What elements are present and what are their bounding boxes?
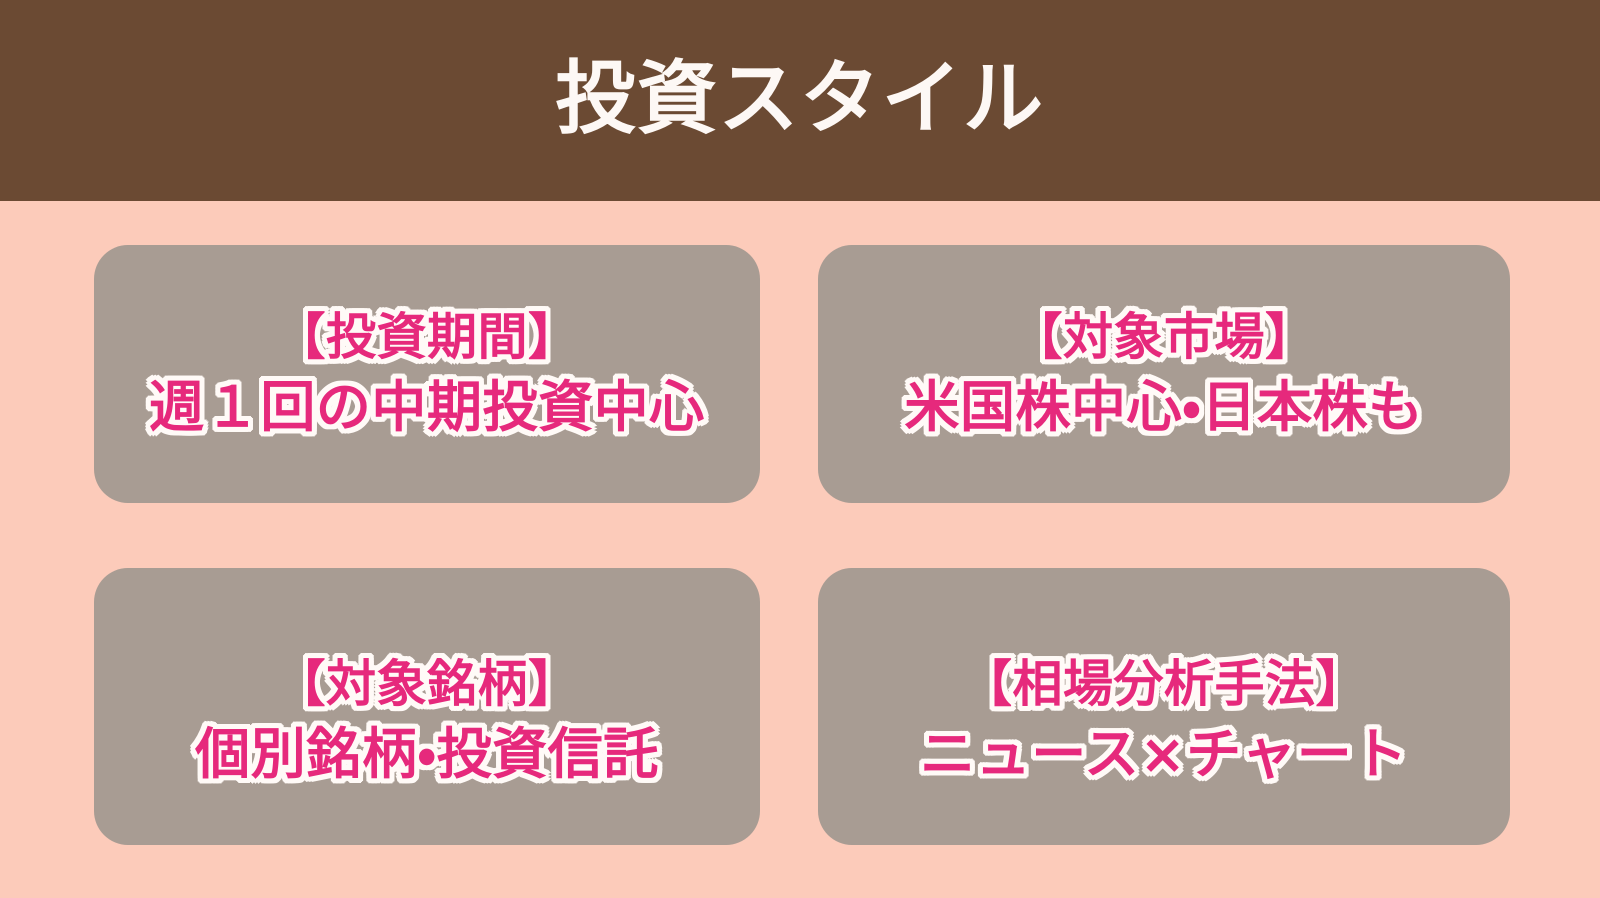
- card-title: 【対象銘柄】: [276, 656, 579, 713]
- card-content: 【対象市場】 米国株中心・日本株も: [904, 309, 1423, 439]
- card-body: 個別銘柄・投資信託: [195, 723, 659, 786]
- card-target-market: 【対象市場】 米国株中心・日本株も: [818, 245, 1510, 503]
- card-content: 【投資期間】 週１回の中期投資中心: [149, 309, 705, 439]
- card-analysis-method: 【相場分析手法】 ニュース×チャート: [818, 568, 1510, 845]
- card-title: 【相場分析手法】: [962, 656, 1366, 713]
- card-content: 【相場分析手法】 ニュース×チャート: [920, 656, 1408, 786]
- header-band: 投資スタイル: [0, 0, 1600, 201]
- slide-root: 投資スタイル 【投資期間】 週１回の中期投資中心 【対象市場】 米国株中心・日本…: [0, 0, 1600, 898]
- card-body: 週１回の中期投資中心: [149, 376, 705, 439]
- card-investment-period: 【投資期間】 週１回の中期投資中心: [94, 245, 760, 503]
- card-body: ニュース×チャート: [920, 723, 1408, 786]
- card-grid: 【投資期間】 週１回の中期投資中心 【対象市場】 米国株中心・日本株も 【対象銘…: [0, 201, 1600, 898]
- page-title: 投資スタイル: [535, 59, 1065, 139]
- card-title: 【投資期間】: [275, 309, 578, 366]
- card-target-issues: 【対象銘柄】 個別銘柄・投資信託: [94, 568, 760, 845]
- card-title: 【対象市場】: [1012, 309, 1315, 366]
- card-body: 米国株中心・日本株も: [904, 376, 1423, 439]
- card-content: 【対象銘柄】 個別銘柄・投資信託: [195, 656, 659, 786]
